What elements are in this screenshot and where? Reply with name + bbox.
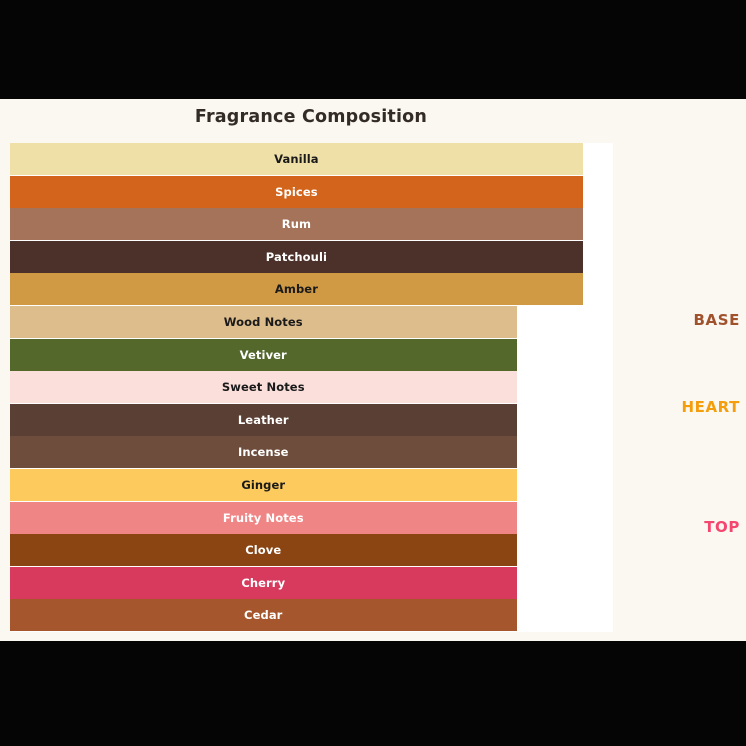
bar-label: Clove: [245, 543, 281, 557]
bar-label: Spices: [275, 185, 318, 199]
bar-label: Sweet Notes: [222, 380, 305, 394]
bar-label: Leather: [238, 413, 289, 427]
bar-row[interactable]: Rum: [10, 208, 583, 240]
bar-label: Cedar: [244, 608, 282, 622]
page-title: Fragrance Composition: [0, 107, 622, 127]
bar-row[interactable]: Cherry: [10, 567, 517, 599]
bar-row[interactable]: Fruity Notes: [10, 502, 517, 534]
bar-row[interactable]: Vanilla: [10, 143, 583, 175]
bar-row[interactable]: Patchouli: [10, 241, 583, 273]
bar-label: Wood Notes: [224, 315, 303, 329]
bar-row[interactable]: Leather: [10, 404, 517, 436]
bar-label: Incense: [238, 445, 289, 459]
stage-label-top: TOP: [704, 518, 740, 536]
bar-label: Vanilla: [274, 152, 319, 166]
bar-row[interactable]: Sweet Notes: [10, 371, 517, 403]
stage-label-base: BASE: [694, 311, 741, 329]
chart-canvas: Fragrance Composition VanillaSpicesRumPa…: [0, 0, 746, 746]
bar-label: Fruity Notes: [223, 511, 304, 525]
bar-label: Patchouli: [266, 250, 327, 264]
bar-row[interactable]: Spices: [10, 176, 583, 208]
bar-label: Cherry: [241, 576, 285, 590]
bar-row[interactable]: Ginger: [10, 469, 517, 501]
stage-label-heart: HEART: [681, 398, 740, 416]
figure-area: Fragrance Composition VanillaSpicesRumPa…: [0, 99, 746, 641]
bar-row[interactable]: Cedar: [10, 599, 517, 631]
bar-row[interactable]: Incense: [10, 436, 517, 468]
bar-label: Vetiver: [240, 348, 287, 362]
bar-label: Amber: [275, 282, 318, 296]
bar-row[interactable]: Vetiver: [10, 339, 517, 371]
bar-row[interactable]: Wood Notes: [10, 306, 517, 338]
bar-row[interactable]: Amber: [10, 273, 583, 305]
bar-label: Ginger: [241, 478, 285, 492]
bar-label: Rum: [282, 217, 311, 231]
bar-row[interactable]: Clove: [10, 534, 517, 566]
plot-area: VanillaSpicesRumPatchouliAmberWood Notes…: [10, 143, 613, 632]
